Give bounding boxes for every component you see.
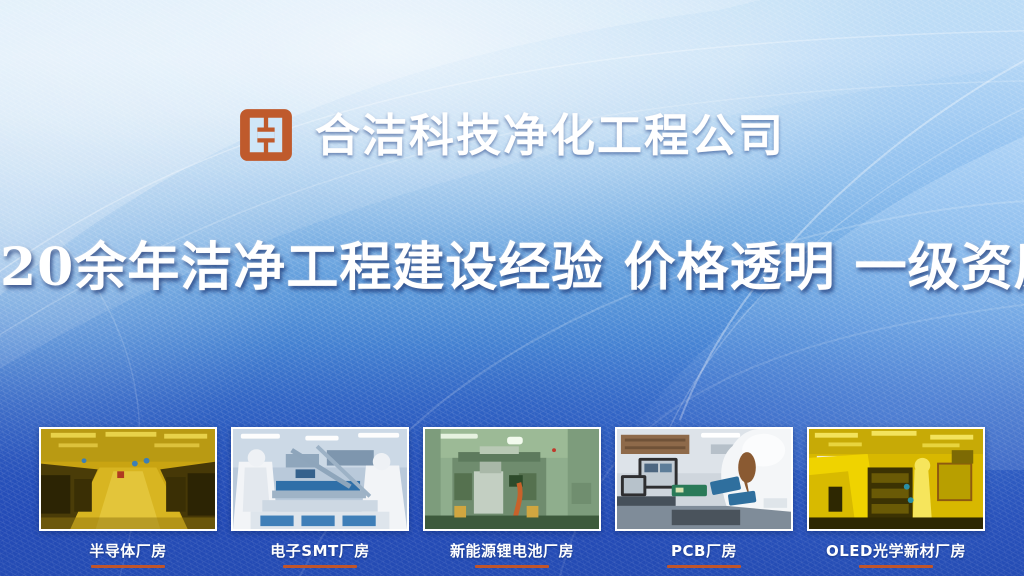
- caption-underline: [859, 565, 933, 568]
- gallery-caption: 新能源锂电池厂房: [450, 540, 574, 561]
- gallery-item-pcb[interactable]: PCB厂房: [615, 427, 793, 568]
- caption-underline: [475, 565, 549, 568]
- smt-assembly-line-photo: [233, 429, 407, 529]
- gallery-caption: PCB厂房: [671, 540, 737, 561]
- gallery-caption: OLED光学新材厂房: [826, 540, 966, 561]
- caption-underline: [667, 565, 741, 568]
- thumbnail-frame[interactable]: [615, 427, 793, 531]
- brand-name: 合洁科技净化工程公司: [315, 113, 785, 158]
- caption-underline: [283, 565, 357, 568]
- lithium-battery-plant-photo: [425, 429, 599, 529]
- oled-optics-cleanroom-photo: [809, 429, 983, 529]
- caption-underline: [91, 565, 165, 568]
- gallery-caption: 半导体厂房: [89, 540, 167, 561]
- brand-header: 合洁科技净化工程公司: [0, 108, 1024, 162]
- gallery-item-semiconductor[interactable]: 半导体厂房: [39, 427, 217, 568]
- facility-gallery: 半导体厂房: [0, 427, 1024, 568]
- thumbnail-frame[interactable]: [231, 427, 409, 531]
- thumbnail-frame[interactable]: [39, 427, 217, 531]
- gallery-item-battery[interactable]: 新能源锂电池厂房: [423, 427, 601, 568]
- promo-poster: 合洁科技净化工程公司 20余年洁净工程建设经验 价格透明 一级资质: [0, 0, 1024, 576]
- pcb-inspection-photo: [617, 429, 791, 529]
- gallery-item-oled[interactable]: OLED光学新材厂房: [807, 427, 985, 568]
- thumbnail-frame[interactable]: [423, 427, 601, 531]
- gallery-caption: 电子SMT厂房: [270, 540, 369, 561]
- hejie-h-logo-icon: [239, 108, 293, 162]
- thumbnail-frame[interactable]: [807, 427, 985, 531]
- page-headline: 20余年洁净工程建设经验 价格透明 一级资质: [0, 240, 1024, 296]
- semiconductor-fab-photo: [41, 429, 215, 529]
- gallery-item-smt[interactable]: 电子SMT厂房: [231, 427, 409, 568]
